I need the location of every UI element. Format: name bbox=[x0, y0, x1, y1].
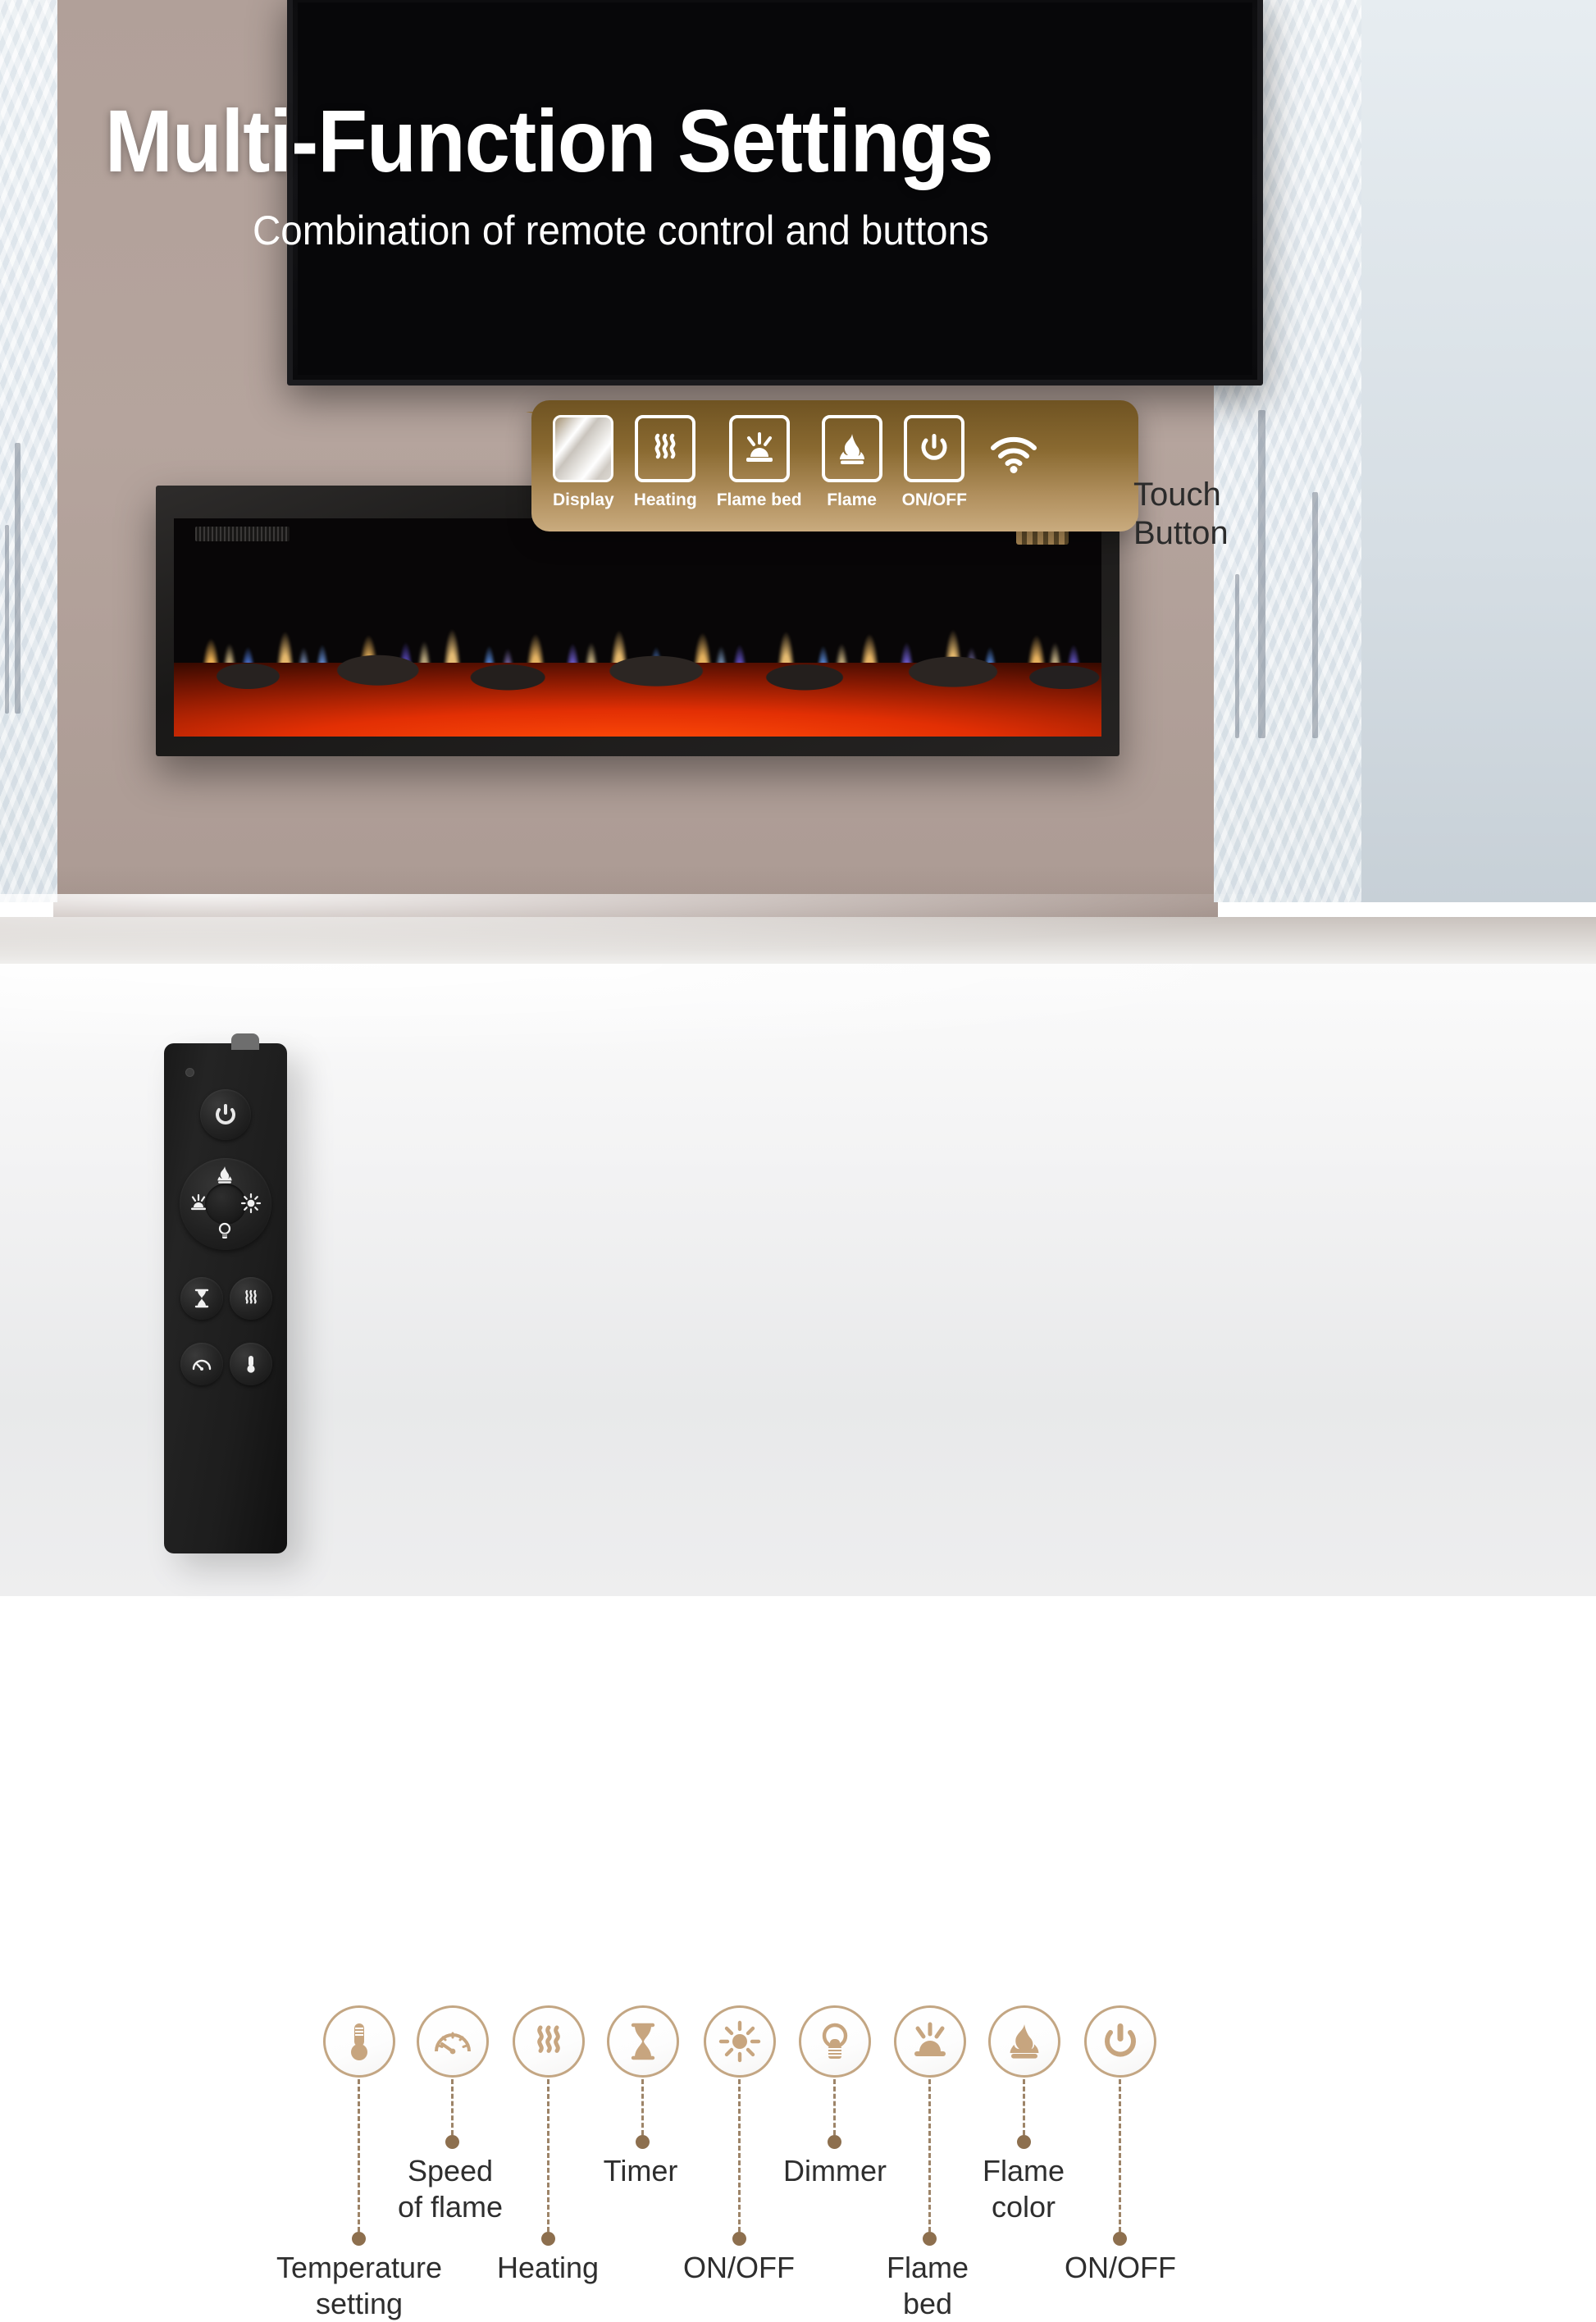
brightness-sun-icon bbox=[718, 2020, 761, 2063]
callout-icon-power-onoff[interactable] bbox=[1084, 2005, 1156, 2078]
callout-label-temperature: Temperature setting bbox=[261, 2250, 458, 2322]
page-subtitle: Combination of remote control and button… bbox=[253, 207, 1343, 254]
thermometer-icon bbox=[340, 2019, 378, 2064]
touch-button-label: Touch Button bbox=[1133, 476, 1297, 553]
callout-dash-flame-bed bbox=[928, 2079, 931, 2232]
floor-highlight bbox=[0, 894, 1596, 972]
page-title: Multi-Function Settings bbox=[105, 97, 1388, 185]
touch-item-display[interactable]: Display bbox=[553, 415, 614, 510]
callout-dot-flame-bed bbox=[923, 2232, 937, 2246]
touch-label-flame: Flame bbox=[827, 490, 877, 510]
callout-dot-temperature bbox=[352, 2232, 366, 2246]
callout-dot-dimmer bbox=[828, 2135, 841, 2149]
callout-label-timer: Timer bbox=[564, 2153, 717, 2189]
callout-label-flame-bed: Flame bed bbox=[839, 2250, 1016, 2322]
flame-icon bbox=[1003, 2020, 1046, 2063]
window-left bbox=[0, 0, 57, 902]
callout-icon-flame-color[interactable] bbox=[988, 2005, 1060, 2078]
touch-label-onoff: ON/OFF bbox=[902, 490, 967, 510]
callout-dot-power-onoff bbox=[1113, 2232, 1127, 2246]
callout-icon-timer[interactable] bbox=[607, 2005, 679, 2078]
touch-label-heating: Heating bbox=[634, 490, 697, 510]
window-far-right bbox=[1361, 0, 1596, 902]
speed-gauge-icon bbox=[431, 2022, 474, 2061]
callout-dash-dimmer bbox=[833, 2079, 836, 2135]
infographic-root: Multi-Function Settings Combination of r… bbox=[0, 0, 1596, 1596]
bulb-dimmer-icon bbox=[815, 2019, 855, 2064]
callout-dash-timer bbox=[641, 2079, 644, 2135]
callout-dash-heating bbox=[547, 2079, 549, 2232]
callout-dot-speed bbox=[445, 2135, 459, 2149]
callout-label-power-onoff: ON/OFF bbox=[1032, 2250, 1209, 2286]
callout-dot-flame-color bbox=[1017, 2135, 1031, 2149]
power-icon bbox=[904, 415, 964, 482]
callout-icon-flame-bed[interactable] bbox=[894, 2005, 966, 2078]
callout-dash-power-onoff bbox=[1119, 2079, 1121, 2232]
heating-waves-icon bbox=[529, 2021, 568, 2062]
touch-item-flame[interactable]: Flame bbox=[822, 415, 882, 510]
callout-icon-heating[interactable] bbox=[513, 2005, 585, 2078]
ember-rocks bbox=[174, 655, 1101, 694]
callout-label-dimmer: Dimmer bbox=[746, 2153, 923, 2189]
callout-icon-temperature[interactable] bbox=[323, 2005, 395, 2078]
callout-dot-brightness-onoff bbox=[732, 2232, 746, 2246]
callout-icon-dimmer[interactable] bbox=[799, 2005, 871, 2078]
fireplace-firebox bbox=[174, 518, 1101, 737]
callout-icon-brightness-onoff[interactable] bbox=[704, 2005, 776, 2078]
touch-item-flame-bed[interactable]: Flame bed bbox=[717, 415, 802, 510]
display-mirror-icon bbox=[553, 415, 613, 482]
callout-icon-speed[interactable] bbox=[417, 2005, 489, 2078]
callout-dash-brightness-onoff bbox=[738, 2079, 741, 2232]
touch-panel-callout: Display Heating bbox=[531, 400, 1138, 531]
flame-icon bbox=[822, 415, 882, 482]
wifi-icon bbox=[988, 435, 1039, 478]
callout-label-flame-color: Flame color bbox=[935, 2153, 1112, 2225]
touch-label-flame-bed: Flame bed bbox=[717, 490, 802, 510]
room-scene: Multi-Function Settings Combination of r… bbox=[0, 0, 1596, 972]
feature-callout-row: Temperature setting Speed of flame bbox=[0, 964, 1596, 1596]
callout-dot-heating bbox=[541, 2232, 555, 2246]
heating-waves-icon bbox=[635, 415, 695, 482]
flame-bed-sunrise-icon bbox=[729, 415, 790, 482]
callout-dot-timer bbox=[636, 2135, 650, 2149]
callout-label-brightness-onoff: ON/OFF bbox=[650, 2250, 828, 2286]
callout-label-speed: Speed of flame bbox=[359, 2153, 541, 2225]
power-icon bbox=[1101, 2020, 1140, 2063]
touch-item-onoff[interactable]: ON/OFF bbox=[902, 415, 967, 510]
flame-bed-sunrise-icon bbox=[908, 2020, 952, 2063]
tv-panel bbox=[287, 0, 1263, 385]
callout-dash-speed bbox=[451, 2079, 454, 2135]
timer-hourglass-icon bbox=[625, 2020, 661, 2063]
callout-label-heating: Heating bbox=[458, 2250, 638, 2286]
callout-dash-flame-color bbox=[1023, 2079, 1025, 2135]
touch-label-display: Display bbox=[553, 490, 614, 510]
touch-item-heating[interactable]: Heating bbox=[634, 415, 697, 510]
